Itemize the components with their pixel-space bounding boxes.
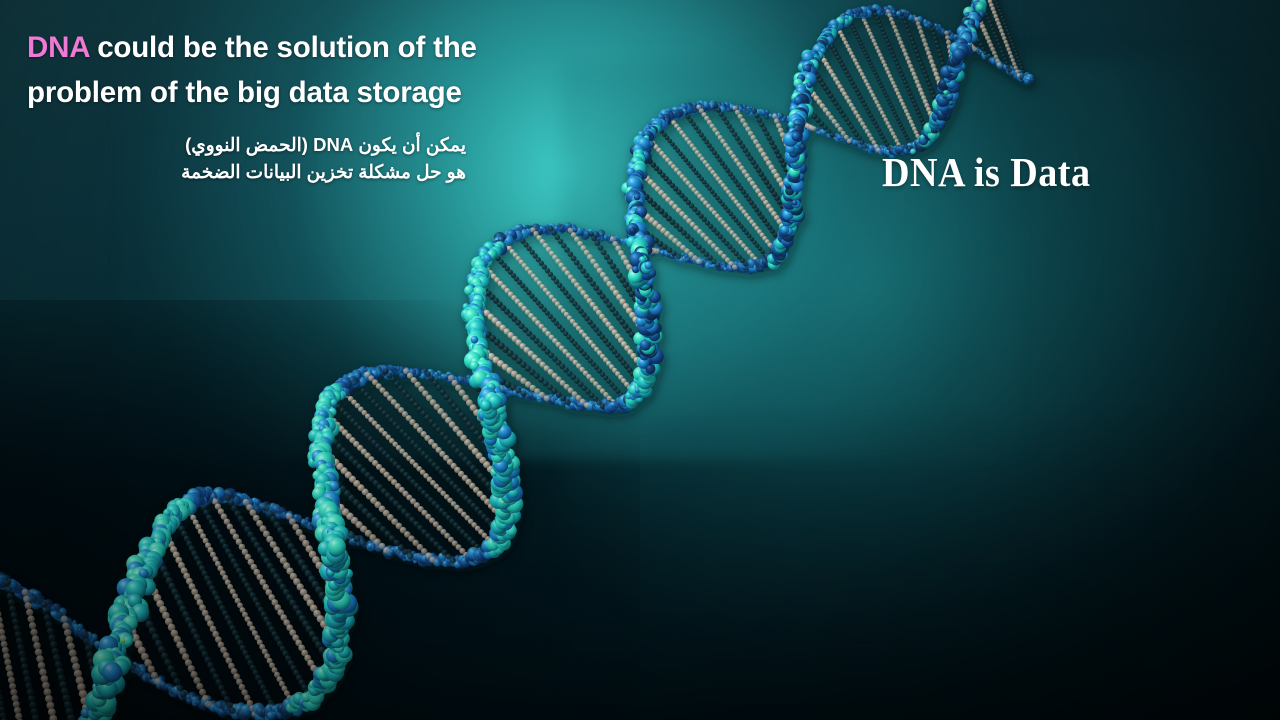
headline-line2: problem of the big data storage — [27, 76, 462, 109]
headline-accent-word: DNA — [27, 31, 89, 64]
arabic-subtitle-line1: يمكن أن يكون DNA (الحمض النووي) — [185, 134, 466, 155]
arabic-subtitle: يمكن أن يكون DNA (الحمض النووي) هو حل مش… — [60, 131, 466, 185]
page-headline: DNA could be the solution of the problem… — [27, 25, 647, 115]
arabic-subtitle-line2: هو حل مشكلة تخزين البيانات الضخمة — [181, 161, 466, 182]
poster-canvas: DNA could be the solution of the problem… — [0, 0, 1280, 720]
brand-title: DNA is Data — [882, 148, 1090, 196]
headline-line1-rest: could be the solution of the — [89, 31, 477, 64]
